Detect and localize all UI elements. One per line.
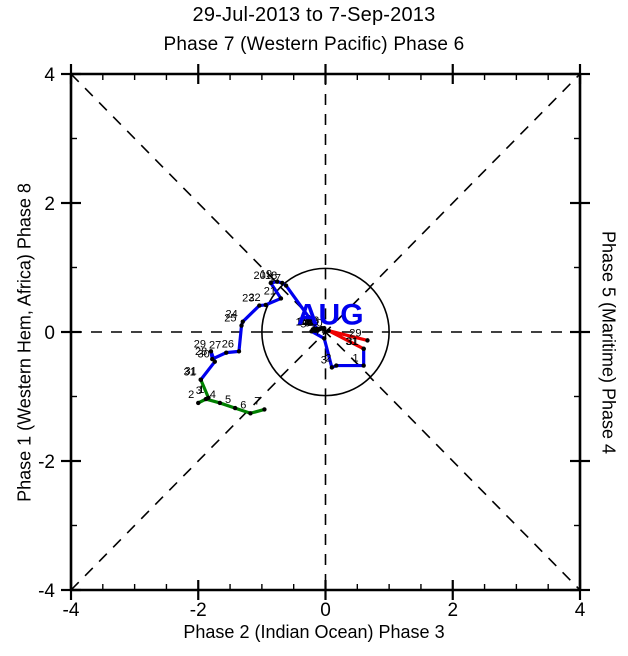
day-label: 31 xyxy=(346,336,358,348)
day-label: 31 xyxy=(185,366,197,378)
data-point xyxy=(241,319,245,323)
data-point xyxy=(262,407,266,411)
mjo-phase-diagram: 29-Jul-2013 to 7-Sep-2013 Phase 7 (Weste… xyxy=(0,0,628,656)
day-label: 25 xyxy=(224,313,236,325)
data-point xyxy=(248,411,252,415)
x-tick-label: -4 xyxy=(63,600,80,621)
data-point xyxy=(196,401,200,405)
x-axis-label-bottom: Phase 2 (Indian Ocean) Phase 3 xyxy=(0,622,628,643)
day-label: 3 xyxy=(196,385,202,397)
y-tick-label: 0 xyxy=(44,323,55,344)
month-annotation: AUG xyxy=(297,298,364,331)
month-label: AUG xyxy=(297,298,364,331)
y-tick-label: -2 xyxy=(38,452,55,473)
x-tick-label: 0 xyxy=(320,600,331,621)
data-point xyxy=(361,347,365,351)
data-point xyxy=(218,401,222,405)
data-point xyxy=(263,303,267,307)
day-label: 27 xyxy=(209,340,221,352)
day-label: 4 xyxy=(210,389,216,401)
day-label: 6 xyxy=(240,399,246,411)
day-label: 7 xyxy=(254,395,260,407)
day-label: 26 xyxy=(222,338,234,350)
day-label: 21 xyxy=(264,285,276,297)
day-label: 1 xyxy=(353,353,359,365)
plot-canvas: -4-2024-4-2024 2930313112345678910111213… xyxy=(0,0,628,656)
day-label: 5 xyxy=(225,394,231,406)
data-point xyxy=(361,363,365,367)
x-tick-label: -2 xyxy=(190,600,207,621)
day-label: 30 xyxy=(198,349,210,361)
y-tick-label: 2 xyxy=(44,194,55,215)
data-point xyxy=(239,323,243,327)
data-point xyxy=(204,397,208,401)
data-point xyxy=(365,338,369,342)
day-label: 2 xyxy=(188,389,194,401)
chart-title: 29-Jul-2013 to 7-Sep-2013 xyxy=(0,4,628,27)
y-tick-label: -4 xyxy=(38,581,55,602)
data-point xyxy=(257,303,261,307)
data-point xyxy=(322,336,326,340)
y-axis-label-left: Phase 1 (Western Hem, Africa) Phase 8 xyxy=(15,133,36,553)
x-tick-label: 2 xyxy=(447,600,458,621)
day-label: 3 xyxy=(321,354,327,366)
chart-subtitle: Phase 7 (Western Pacific) Phase 6 xyxy=(0,34,628,56)
day-label: 23 xyxy=(242,293,254,305)
y-axis-label-right: Phase 5 (Maritime) Phase 4 xyxy=(598,133,619,553)
data-point xyxy=(279,296,283,300)
data-point xyxy=(199,378,203,382)
data-point xyxy=(330,365,334,369)
data-point xyxy=(284,283,288,287)
y-tick-label: 4 xyxy=(44,65,55,86)
data-point xyxy=(233,406,237,410)
data-point xyxy=(213,359,217,363)
data-point xyxy=(334,363,338,367)
unit-circle xyxy=(262,268,389,395)
x-tick-label: 4 xyxy=(575,600,586,621)
day-label: 20 xyxy=(254,270,266,282)
data-point xyxy=(237,349,241,353)
data-point xyxy=(224,350,228,354)
